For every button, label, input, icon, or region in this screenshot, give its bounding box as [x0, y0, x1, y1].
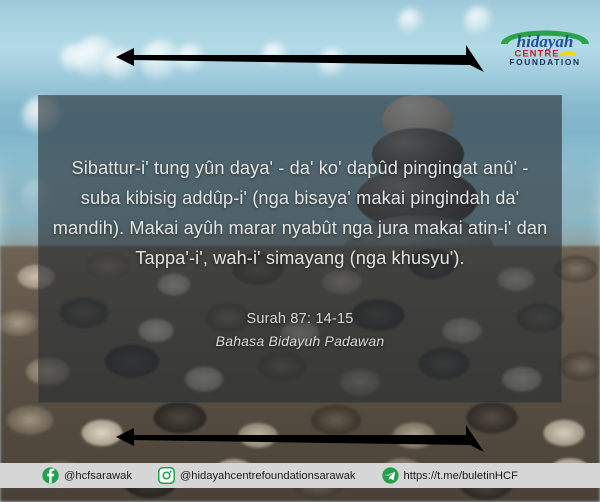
quote-line-3: mandih). Makai ayûh marar nyabût nga jur…: [50, 213, 550, 243]
quote-language-note: Bahasa Bidayuh Padawan: [38, 333, 562, 349]
double-headed-arrow-bottom: [0, 424, 600, 454]
facebook-handle: @hcfsarawak: [64, 470, 132, 482]
quote-text: Sibattur-i' tung yûn daya' - da' ko' dap…: [38, 153, 562, 273]
quote-line-1: Sibattur-i' tung yûn daya' - da' ko' dap…: [50, 153, 550, 183]
quote-line-2: suba kibisig addûp-i' (nga bisaya' makai…: [50, 183, 550, 213]
telegram-link: https://t.me/buletinHCF: [404, 470, 518, 482]
logo-word-foundation: FOUNDATION: [509, 57, 580, 66]
social-footer: @hcfsarawak @hidayahcentrefoundationsara…: [0, 463, 600, 488]
bokeh-dot: [398, 8, 424, 34]
quote-line-4: Tappa'-i', wah-i' simayang (nga khusyu')…: [50, 243, 550, 273]
social-instagram[interactable]: @hidayahcentrefoundationsarawak: [158, 467, 356, 484]
social-telegram[interactable]: https://t.me/buletinHCF: [382, 467, 518, 484]
hidayah-centre-foundation-logo: hidayah CENTRE FOUNDATION: [497, 18, 593, 66]
instagram-icon[interactable]: [158, 467, 175, 484]
quote-panel: Sibattur-i' tung yûn daya' - da' ko' dap…: [38, 95, 562, 403]
social-facebook[interactable]: @hcfsarawak: [42, 467, 132, 484]
quote-poster: hidayah CENTRE FOUNDATION Sibattur-i' tu…: [0, 0, 600, 502]
bokeh-dot: [464, 6, 494, 36]
facebook-icon[interactable]: [42, 467, 59, 484]
instagram-handle: @hidayahcentrefoundationsarawak: [180, 470, 356, 482]
quote-reference: Surah 87: 14-15: [38, 311, 562, 327]
telegram-icon[interactable]: [382, 467, 399, 484]
